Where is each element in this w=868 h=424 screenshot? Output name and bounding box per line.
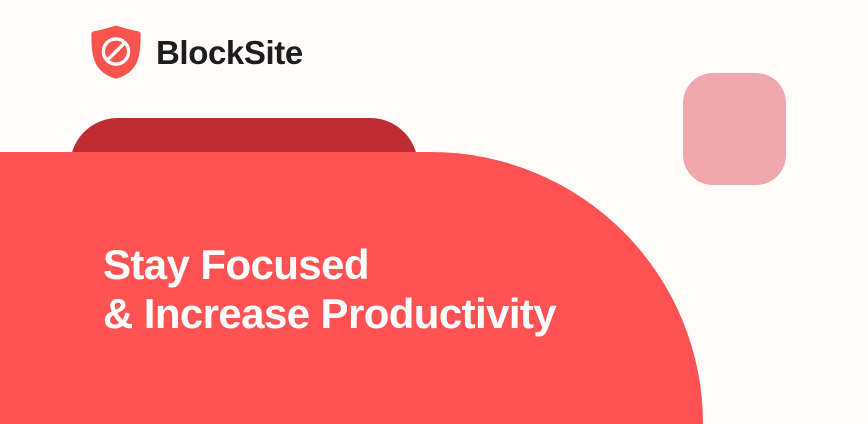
blocksite-promo-banner: BlockSite Stay Focused & Increase Produc…: [0, 0, 868, 424]
brand-wordmark: BlockSite: [156, 36, 303, 69]
headline-line-1: Stay Focused: [103, 240, 556, 289]
pink-rounded-square-decoration: [683, 73, 786, 185]
shield-prohibition-icon: [90, 24, 142, 80]
headline: Stay Focused & Increase Productivity: [103, 240, 556, 338]
headline-line-2: & Increase Productivity: [103, 289, 556, 338]
brand-logo-lockup: BlockSite: [90, 24, 303, 80]
